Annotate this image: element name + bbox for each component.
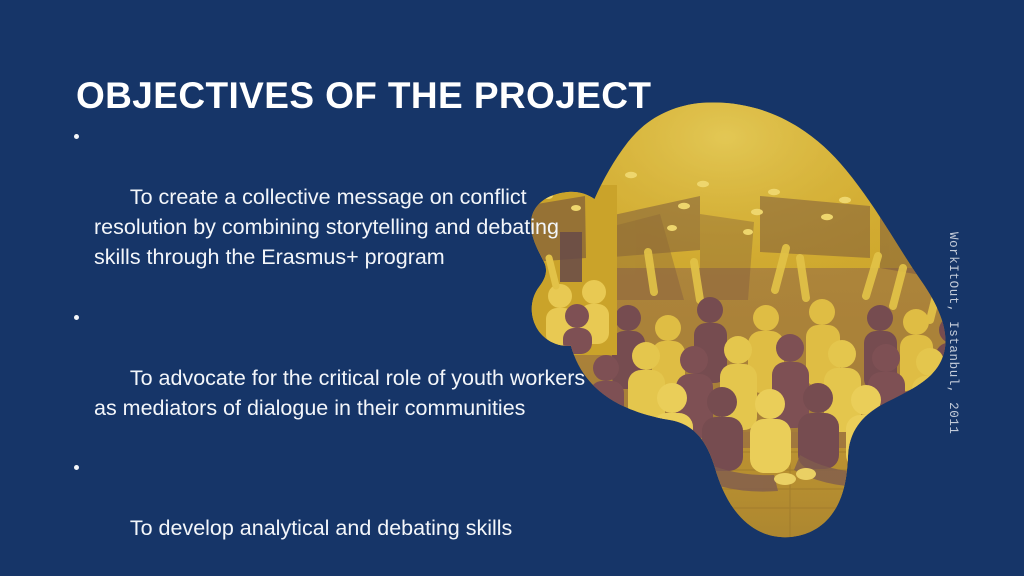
photo-caption: WorkItOut, Istanbul, 2011 <box>946 232 960 252</box>
list-item: To advocate for the critical role of you… <box>72 303 592 453</box>
list-item: To create a collective message on confli… <box>72 122 592 302</box>
objectives-list: To create a collective message on confli… <box>72 122 592 576</box>
bullet-icon <box>74 315 79 320</box>
list-item: To develop analytical and debating skill… <box>72 453 592 573</box>
presentation-slide: OBJECTIVES OF THE PROJECT To create a co… <box>0 0 1024 576</box>
list-item-label: To advocate for the critical role of you… <box>94 366 591 420</box>
page-title: OBJECTIVES OF THE PROJECT <box>76 76 651 117</box>
crowd-middle-row <box>590 334 949 439</box>
list-item-label: To create a collective message on confli… <box>94 185 565 269</box>
crowd-front-row <box>652 383 931 473</box>
bullet-icon <box>74 134 79 139</box>
bullet-icon <box>74 465 79 470</box>
crowd-back-row <box>612 297 969 401</box>
list-item-label: To develop analytical and debating skill… <box>130 516 512 540</box>
